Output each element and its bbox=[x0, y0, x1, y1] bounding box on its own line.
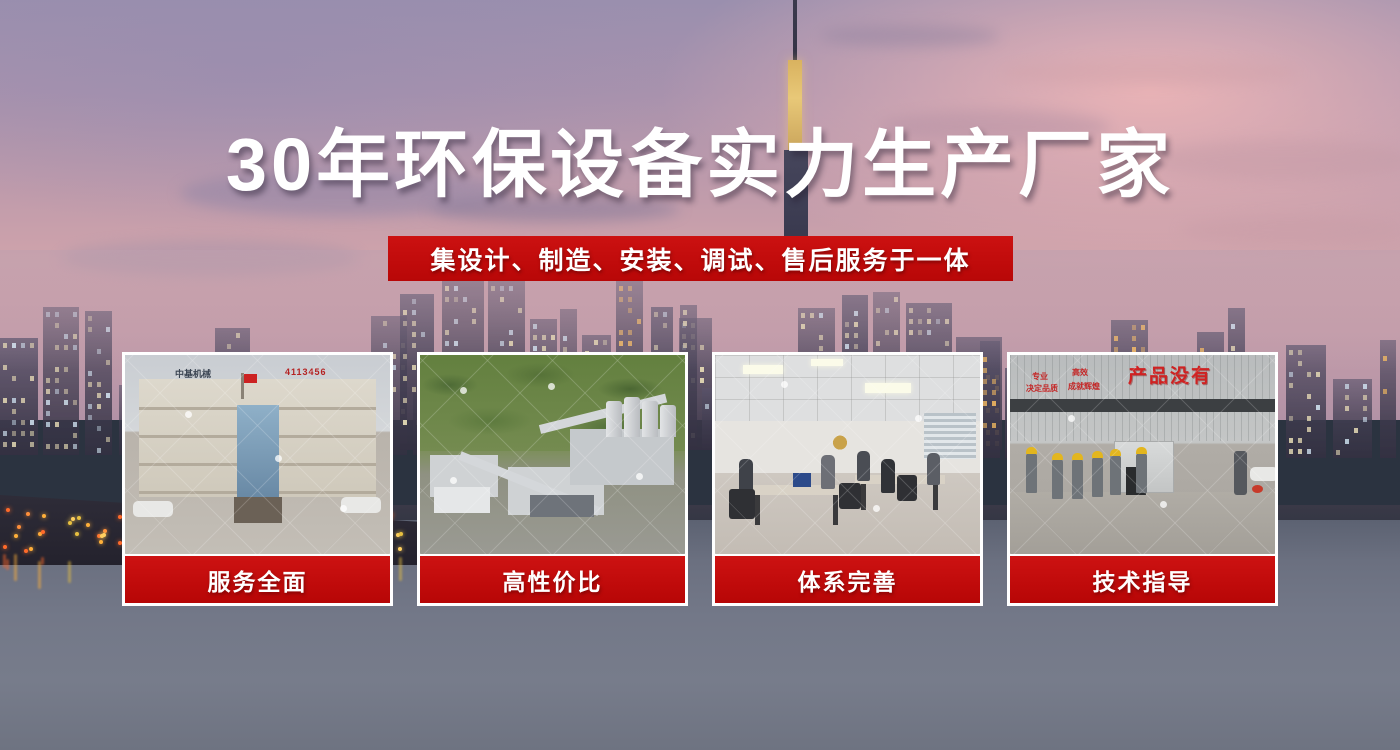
building-phone-label: 4113456 bbox=[285, 367, 327, 377]
window-light bbox=[509, 330, 513, 335]
window-light bbox=[12, 398, 16, 403]
window-light bbox=[927, 308, 931, 313]
window-light bbox=[454, 319, 458, 324]
window-light bbox=[918, 319, 922, 324]
window-light bbox=[845, 333, 849, 338]
window-light bbox=[3, 398, 7, 403]
window-light bbox=[854, 311, 858, 316]
window-light bbox=[1345, 384, 1349, 389]
shore-light bbox=[17, 525, 21, 529]
window-light bbox=[700, 345, 704, 350]
window-light bbox=[64, 345, 68, 350]
window-light bbox=[628, 286, 632, 291]
window-light bbox=[533, 335, 537, 340]
window-light bbox=[55, 378, 59, 383]
office-ceiling bbox=[715, 355, 980, 421]
window-light bbox=[46, 400, 50, 405]
office-worker bbox=[857, 451, 870, 481]
window-light bbox=[654, 345, 658, 350]
window-light bbox=[509, 286, 513, 291]
window-light bbox=[445, 330, 449, 335]
shore-light bbox=[42, 514, 46, 518]
window-light bbox=[509, 341, 513, 346]
window-light bbox=[876, 308, 880, 313]
window-light bbox=[845, 344, 849, 349]
worker bbox=[1110, 455, 1121, 495]
window-light bbox=[30, 431, 34, 436]
hard-hat bbox=[1026, 447, 1037, 454]
window-light bbox=[1132, 325, 1136, 330]
window-light bbox=[412, 332, 416, 337]
window-light bbox=[936, 319, 940, 324]
photo-scene bbox=[715, 355, 980, 554]
window-light bbox=[73, 345, 77, 350]
shore-light bbox=[75, 532, 79, 536]
light-reflection bbox=[6, 559, 9, 570]
window-light bbox=[927, 319, 931, 324]
factory-sign-main: 产品没有 bbox=[1128, 361, 1212, 388]
window-light bbox=[909, 319, 913, 324]
window-light bbox=[46, 389, 50, 394]
cloud bbox=[1000, 60, 1300, 86]
window-light bbox=[628, 297, 632, 302]
office-worker bbox=[881, 459, 895, 493]
window-light bbox=[628, 308, 632, 313]
factory-sign-small: 专业 bbox=[1032, 371, 1048, 382]
window-light bbox=[88, 327, 92, 332]
window-light bbox=[542, 335, 546, 340]
card-label: 服务全面 bbox=[125, 554, 390, 603]
window-light bbox=[1345, 406, 1349, 411]
window-light bbox=[1363, 395, 1367, 400]
window-light bbox=[1363, 406, 1367, 411]
window-light bbox=[854, 344, 858, 349]
wall-logo bbox=[823, 427, 857, 453]
window-light bbox=[3, 343, 7, 348]
window-light bbox=[106, 360, 110, 365]
window-light bbox=[64, 400, 68, 405]
building bbox=[1380, 340, 1396, 458]
window-light bbox=[73, 444, 77, 449]
promotional-banner: 30年环保设备实力生产厂家 集设计、制造、安装、调试、售后服务于一体 bbox=[0, 0, 1400, 750]
window-light bbox=[472, 308, 476, 313]
window-light bbox=[55, 444, 59, 449]
window-light bbox=[1289, 438, 1293, 443]
window-light bbox=[463, 297, 467, 302]
window-light bbox=[500, 286, 504, 291]
supervisor bbox=[1234, 451, 1247, 495]
shore-light bbox=[29, 547, 33, 551]
window-light bbox=[551, 335, 555, 340]
feature-card[interactable]: 高性价比 bbox=[417, 352, 688, 606]
window-light bbox=[1383, 389, 1387, 394]
window-light bbox=[64, 389, 68, 394]
feature-card[interactable]: 产品没有 专业 高效 决定品质 成就辉煌 bbox=[1007, 352, 1278, 606]
window-light bbox=[1231, 346, 1235, 351]
window-light bbox=[97, 426, 101, 431]
window-light bbox=[46, 411, 50, 416]
factory-yard bbox=[1010, 492, 1275, 554]
window-light bbox=[518, 308, 522, 313]
window-light bbox=[1289, 383, 1293, 388]
window-light bbox=[1114, 336, 1118, 341]
window-light bbox=[88, 316, 92, 321]
window-light bbox=[594, 340, 598, 345]
card-label: 高性价比 bbox=[420, 554, 685, 603]
window-light bbox=[1383, 356, 1387, 361]
window-light bbox=[383, 343, 387, 348]
building bbox=[1286, 345, 1326, 458]
window-light bbox=[73, 334, 77, 339]
window-light bbox=[533, 324, 537, 329]
window-light bbox=[30, 376, 34, 381]
window-light bbox=[106, 437, 110, 442]
factory-sign-small: 成就辉煌 bbox=[1068, 381, 1100, 392]
window-light bbox=[894, 297, 898, 302]
window-light bbox=[73, 433, 77, 438]
factory-workers-training-photo: 产品没有 专业 高效 决定品质 成就辉煌 bbox=[1010, 355, 1275, 554]
hard-hat bbox=[1136, 447, 1147, 454]
worker bbox=[1052, 459, 1063, 499]
window-light bbox=[88, 404, 92, 409]
window-light bbox=[619, 297, 623, 302]
window-light bbox=[412, 310, 416, 315]
window-light bbox=[945, 319, 949, 324]
window-light bbox=[403, 321, 407, 326]
window-light bbox=[801, 324, 805, 329]
window-light bbox=[412, 299, 416, 304]
window-light bbox=[472, 319, 476, 324]
window-light bbox=[619, 286, 623, 291]
window-light bbox=[30, 442, 34, 447]
window-light bbox=[21, 343, 25, 348]
company-headquarters-building-photo: 中基机械 4113456 bbox=[125, 355, 390, 554]
window-light bbox=[97, 404, 101, 409]
window-light bbox=[1231, 324, 1235, 329]
feature-card[interactable]: 中基机械 4113456 服务全面 bbox=[122, 352, 393, 606]
office-workspace-photo bbox=[715, 355, 980, 554]
window-light bbox=[64, 334, 68, 339]
window-light bbox=[1363, 417, 1367, 422]
window-light bbox=[909, 330, 913, 335]
hard-hat bbox=[1110, 449, 1121, 456]
window-light bbox=[1289, 449, 1293, 454]
page-title: 30年环保设备实力生产厂家 bbox=[0, 128, 1400, 202]
aerial-industrial-plant-photo bbox=[420, 355, 685, 554]
window-light bbox=[683, 310, 687, 315]
window-light bbox=[445, 341, 449, 346]
shore-light bbox=[99, 540, 103, 544]
window-light bbox=[403, 310, 407, 315]
shore-light bbox=[86, 523, 90, 527]
card-label: 技术指导 bbox=[1010, 554, 1275, 603]
window-light bbox=[810, 313, 814, 318]
window-light bbox=[1307, 372, 1311, 377]
window-light bbox=[1289, 372, 1293, 377]
window-light bbox=[628, 330, 632, 335]
office-building bbox=[139, 379, 376, 497]
window-light bbox=[909, 308, 913, 313]
window-light bbox=[97, 448, 101, 453]
window-light bbox=[819, 335, 823, 340]
light-reflection bbox=[38, 561, 41, 589]
building bbox=[0, 338, 38, 455]
building-entrance bbox=[234, 497, 282, 523]
window-light bbox=[1345, 395, 1349, 400]
window-light bbox=[454, 297, 458, 302]
window-light bbox=[55, 323, 59, 328]
factory-sign-small: 决定品质 bbox=[1026, 383, 1058, 394]
window-light bbox=[1298, 361, 1302, 366]
window-light bbox=[30, 343, 34, 348]
window-light bbox=[885, 308, 889, 313]
window-light bbox=[1307, 427, 1311, 432]
window-light bbox=[445, 297, 449, 302]
window-light bbox=[683, 321, 687, 326]
window-light bbox=[88, 371, 92, 376]
window-light bbox=[106, 393, 110, 398]
window-light bbox=[1354, 428, 1358, 433]
worker bbox=[1136, 453, 1147, 493]
photo-scene: 产品没有 专业 高效 决定品质 成就辉煌 bbox=[1010, 355, 1275, 554]
shore-light bbox=[3, 545, 7, 549]
window-light bbox=[12, 343, 16, 348]
window-light bbox=[845, 322, 849, 327]
building-signage-label: 中基机械 bbox=[175, 367, 211, 380]
shore-light bbox=[68, 521, 72, 525]
shore-light bbox=[71, 517, 75, 521]
window-light bbox=[21, 398, 25, 403]
window-light bbox=[918, 330, 922, 335]
window-light bbox=[1132, 336, 1136, 341]
flag bbox=[244, 374, 257, 383]
window-light bbox=[12, 420, 16, 425]
window-light bbox=[819, 346, 823, 351]
parked-car bbox=[1250, 467, 1275, 481]
window-light bbox=[1298, 350, 1302, 355]
window-light bbox=[1307, 416, 1311, 421]
window-light bbox=[663, 323, 667, 328]
subtitle-text: 集设计、制造、安装、调试、售后服务于一体 bbox=[430, 241, 970, 277]
window-light bbox=[1336, 450, 1340, 455]
hard-hat bbox=[1052, 453, 1063, 460]
shore-light bbox=[77, 516, 81, 520]
window-light bbox=[637, 319, 641, 324]
window-light bbox=[1289, 350, 1293, 355]
window-light bbox=[3, 442, 7, 447]
window-light bbox=[46, 422, 50, 427]
shore-light bbox=[41, 530, 45, 534]
cloud bbox=[820, 25, 1000, 47]
office-worker bbox=[927, 453, 940, 485]
window-light bbox=[945, 341, 949, 346]
window-light bbox=[491, 286, 495, 291]
cloud bbox=[1180, 215, 1400, 245]
window-light bbox=[927, 330, 931, 335]
subtitle-bar: 集设计、制造、安装、调试、售后服务于一体 bbox=[388, 236, 1013, 281]
window-light bbox=[854, 322, 858, 327]
red-helmet bbox=[1252, 485, 1263, 493]
window-light bbox=[55, 312, 59, 317]
window-light bbox=[801, 313, 805, 318]
window-light bbox=[46, 378, 50, 383]
light-reflection bbox=[14, 554, 17, 581]
window-light bbox=[663, 312, 667, 317]
window-light bbox=[55, 389, 59, 394]
photo-scene bbox=[420, 355, 685, 554]
window-light bbox=[46, 312, 50, 317]
window-light bbox=[383, 321, 387, 326]
window-light bbox=[55, 367, 59, 372]
window-light bbox=[1289, 416, 1293, 421]
building bbox=[85, 311, 112, 455]
hard-hat bbox=[1092, 451, 1103, 458]
window-light bbox=[421, 332, 425, 337]
office-worker bbox=[821, 455, 835, 489]
window-light bbox=[1141, 325, 1145, 330]
window-light bbox=[73, 422, 77, 427]
window-light bbox=[563, 336, 567, 341]
window-light bbox=[619, 330, 623, 335]
window-light bbox=[533, 346, 537, 351]
laptop bbox=[793, 473, 811, 487]
window-light bbox=[88, 415, 92, 420]
window-light bbox=[854, 333, 858, 338]
window-light bbox=[876, 341, 880, 346]
window-light bbox=[46, 444, 50, 449]
worker bbox=[1072, 459, 1083, 499]
window-light bbox=[885, 330, 889, 335]
window-light bbox=[894, 330, 898, 335]
feature-card[interactable]: 体系完善 bbox=[712, 352, 983, 606]
shore-light bbox=[6, 508, 10, 512]
window-light bbox=[55, 422, 59, 427]
window-light bbox=[1298, 438, 1302, 443]
shore-light bbox=[26, 512, 30, 516]
window-light bbox=[1363, 384, 1367, 389]
building bbox=[1333, 379, 1372, 458]
office-worker bbox=[739, 459, 753, 491]
parked-car bbox=[133, 501, 173, 517]
window-light bbox=[445, 286, 449, 291]
window-light bbox=[1316, 405, 1320, 410]
window-light bbox=[97, 349, 101, 354]
window-light bbox=[73, 312, 77, 317]
window-light bbox=[454, 341, 458, 346]
window-light bbox=[500, 341, 504, 346]
window-light bbox=[12, 409, 16, 414]
shore-light bbox=[14, 534, 18, 538]
light-reflection bbox=[68, 561, 71, 584]
feature-card-list: 中基机械 4113456 服务全面 bbox=[122, 352, 1278, 606]
window-light bbox=[106, 327, 110, 332]
window-light bbox=[88, 382, 92, 387]
window-light bbox=[654, 312, 658, 317]
window-light bbox=[1307, 449, 1311, 454]
window-light bbox=[227, 344, 231, 349]
window-light bbox=[542, 346, 546, 351]
window-light bbox=[1316, 372, 1320, 377]
window-light bbox=[1307, 394, 1311, 399]
window-light bbox=[1298, 449, 1302, 454]
photo-scene: 中基机械 4113456 bbox=[125, 355, 390, 554]
window-light bbox=[97, 393, 101, 398]
window-light bbox=[603, 340, 607, 345]
window-light bbox=[683, 343, 687, 348]
hard-hat bbox=[1072, 453, 1083, 460]
window-light bbox=[3, 431, 7, 436]
window-light bbox=[628, 341, 632, 346]
subtitle-banner: 集设计、制造、安装、调试、售后服务于一体 bbox=[388, 236, 1013, 281]
window-light bbox=[619, 341, 623, 346]
window-light bbox=[55, 345, 59, 350]
window-light bbox=[236, 333, 240, 338]
window-light bbox=[12, 431, 16, 436]
window-light bbox=[12, 442, 16, 447]
shore-light bbox=[100, 534, 104, 538]
window-light bbox=[97, 382, 101, 387]
window-light bbox=[819, 313, 823, 318]
window-light bbox=[21, 420, 25, 425]
worker bbox=[1092, 457, 1103, 497]
window-light bbox=[500, 297, 504, 302]
window-light bbox=[454, 286, 458, 291]
window-light bbox=[30, 420, 34, 425]
light-reflection bbox=[41, 557, 44, 565]
worker bbox=[1026, 453, 1037, 493]
window-light bbox=[73, 400, 77, 405]
window-light bbox=[3, 365, 7, 370]
building bbox=[43, 307, 79, 455]
shore-light bbox=[24, 549, 28, 553]
factory-sign-small: 高效 bbox=[1072, 367, 1088, 378]
window-light bbox=[64, 444, 68, 449]
window-light bbox=[21, 431, 25, 436]
window-light bbox=[412, 321, 416, 326]
window-light bbox=[412, 343, 416, 348]
window-light bbox=[12, 376, 16, 381]
card-label: 体系完善 bbox=[715, 554, 980, 603]
window-light bbox=[1345, 439, 1349, 444]
parked-car bbox=[341, 497, 381, 513]
window-light bbox=[64, 367, 68, 372]
